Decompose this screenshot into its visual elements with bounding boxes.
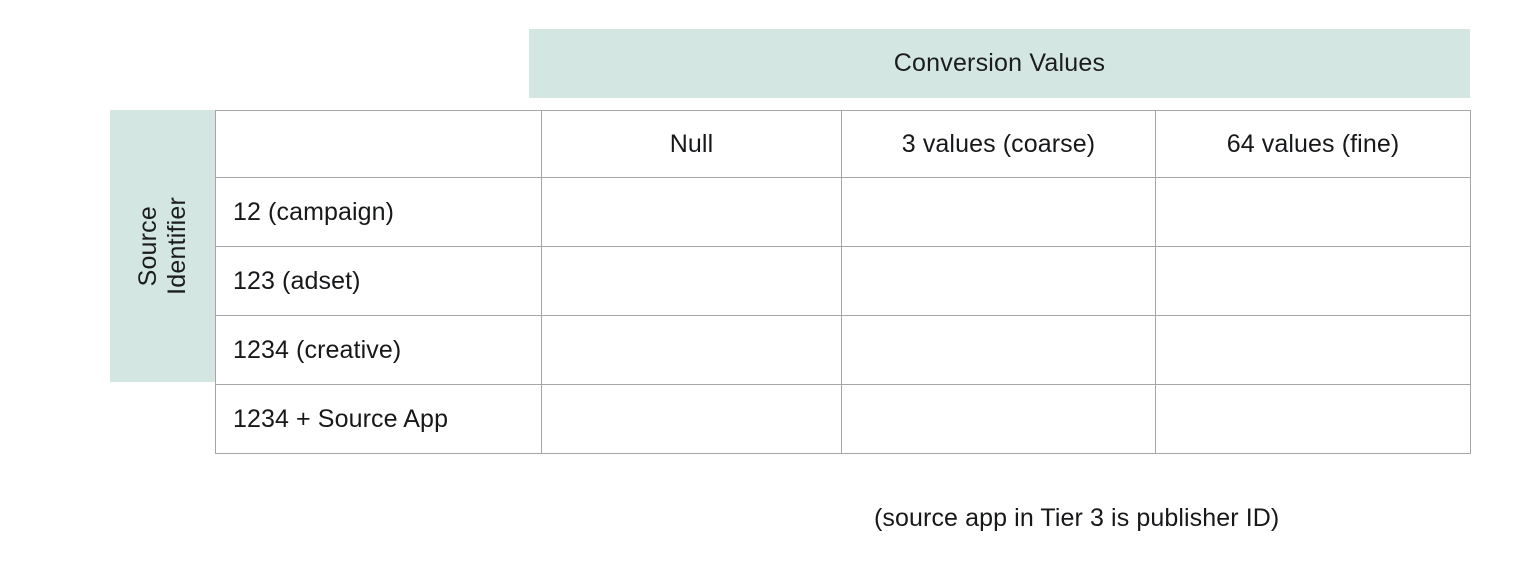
cell-campaign-fine: Tier 2 bbox=[1156, 178, 1471, 247]
row-header-creative-source-app: 1234 + Source App bbox=[216, 385, 542, 454]
table-row: 123 (adset) Tier 2 bbox=[216, 247, 1471, 316]
column-header-coarse: 3 values (coarse) bbox=[842, 111, 1156, 178]
column-header-null: Null bbox=[542, 111, 842, 178]
source-identifier-line-1: Source bbox=[135, 206, 161, 286]
table-row: 12 (campaign) Tier 0 Tier 1 Tier 2 bbox=[216, 178, 1471, 247]
cell-adset-null bbox=[542, 247, 842, 316]
cell-creative-null bbox=[542, 316, 842, 385]
cell-adset-coarse bbox=[842, 247, 1156, 316]
source-identifier-lines: Source Identifier bbox=[135, 197, 190, 295]
cell-adset-fine: Tier 2 bbox=[1156, 247, 1471, 316]
table-header-row: Null 3 values (coarse) 64 values (fine) bbox=[216, 111, 1471, 178]
row-header-adset: 123 (adset) bbox=[216, 247, 542, 316]
conversion-values-title: Conversion Values bbox=[894, 49, 1105, 78]
table-row: 1234 + Source App Tier 3 bbox=[216, 385, 1471, 454]
cell-campaign-null: Tier 0 bbox=[542, 178, 842, 247]
cell-creative-coarse bbox=[842, 316, 1156, 385]
cell-campaign-coarse: Tier 1 bbox=[842, 178, 1156, 247]
footnote-text: (source app in Tier 3 is publisher ID) bbox=[874, 504, 1279, 533]
table-corner-cell bbox=[216, 111, 542, 178]
table-row: 1234 (creative) Tier 2 bbox=[216, 316, 1471, 385]
row-header-campaign: 12 (campaign) bbox=[216, 178, 542, 247]
cell-source-app-fine: Tier 3 bbox=[1156, 385, 1471, 454]
cell-source-app-null bbox=[542, 385, 842, 454]
column-header-fine: 64 values (fine) bbox=[1156, 111, 1471, 178]
cell-creative-fine: Tier 2 bbox=[1156, 316, 1471, 385]
source-identifier-line-2: Identifier bbox=[164, 197, 190, 295]
row-header-creative: 1234 (creative) bbox=[216, 316, 542, 385]
source-identifier-header: Source Identifier bbox=[110, 110, 215, 382]
tier-matrix-table: Null 3 values (coarse) 64 values (fine) … bbox=[215, 110, 1471, 454]
conversion-values-header: Conversion Values bbox=[529, 29, 1470, 98]
cell-source-app-coarse bbox=[842, 385, 1156, 454]
